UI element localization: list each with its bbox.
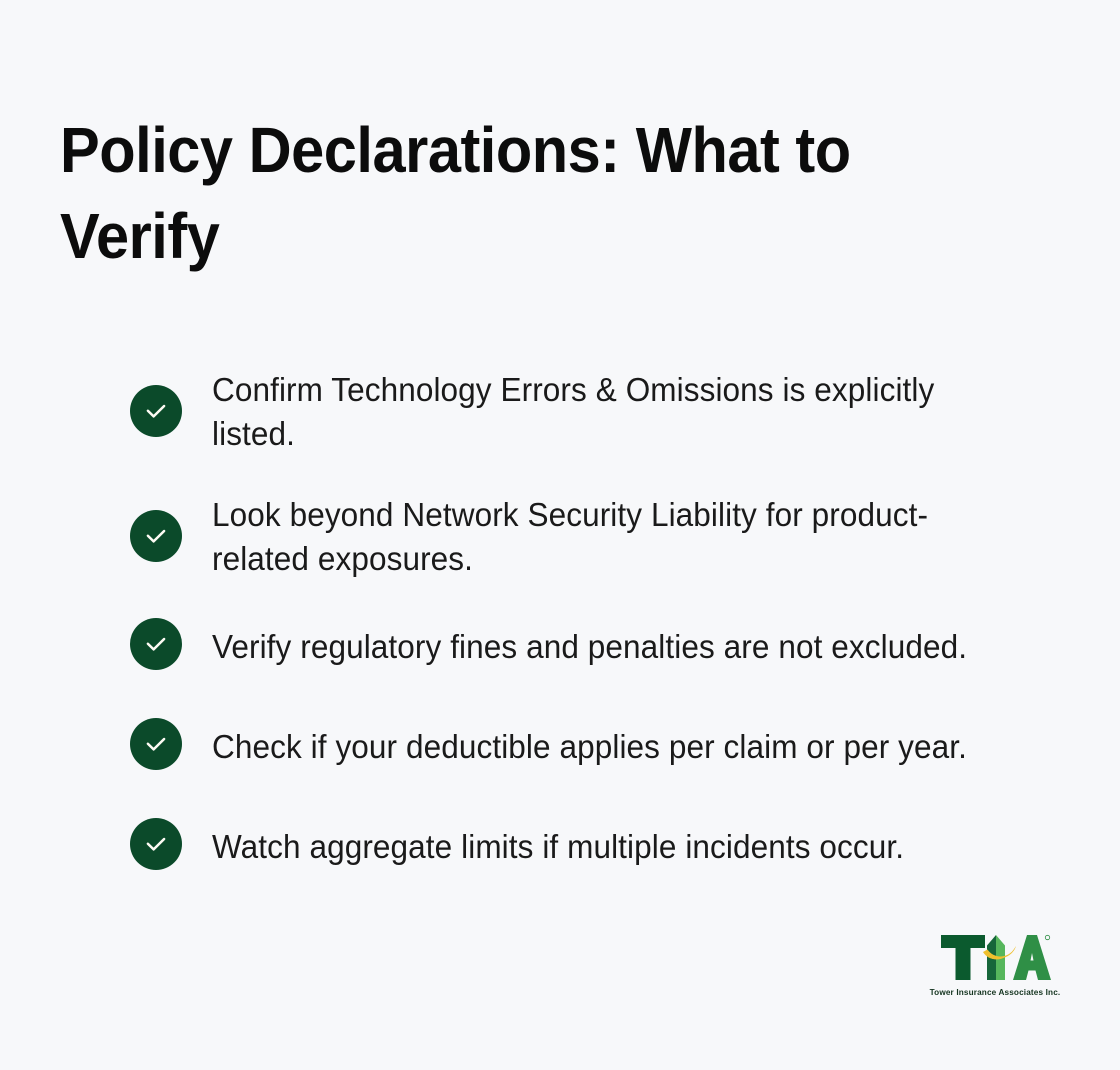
check-circle-icon: [130, 818, 182, 870]
list-item-label: Check if your deductible applies per cla…: [212, 725, 1012, 769]
list-item-label: Confirm Technology Errors & Omissions is…: [212, 368, 1012, 455]
tia-logomark-icon: [939, 932, 1051, 982]
list-item: Watch aggregate limits if multiple incid…: [130, 818, 1050, 870]
list-item-label: Watch aggregate limits if multiple incid…: [212, 825, 1012, 869]
slide-canvas: Policy Declarations: What to Verify Conf…: [0, 0, 1120, 1070]
check-circle-icon: [130, 618, 182, 670]
page-title: Policy Declarations: What to Verify: [60, 108, 925, 280]
company-logo: Tower Insurance Associates Inc.: [925, 932, 1065, 997]
page-title-line-2: Verify: [60, 200, 219, 272]
check-circle-icon: [130, 718, 182, 770]
list-item: Check if your deductible applies per cla…: [130, 718, 1050, 770]
page-title-line-1: Policy Declarations: What to: [60, 114, 851, 186]
list-item: Confirm Technology Errors & Omissions is…: [130, 368, 1050, 455]
check-circle-icon: [130, 510, 182, 562]
checklist: Confirm Technology Errors & Omissions is…: [130, 368, 1050, 870]
list-item: Look beyond Network Security Liability f…: [130, 493, 1050, 580]
check-circle-icon: [130, 385, 182, 437]
list-item-label: Look beyond Network Security Liability f…: [212, 493, 1012, 580]
list-item-label: Verify regulatory fines and penalties ar…: [212, 625, 1012, 669]
list-item: Verify regulatory fines and penalties ar…: [130, 618, 1050, 670]
logo-tagline: Tower Insurance Associates Inc.: [925, 988, 1065, 997]
